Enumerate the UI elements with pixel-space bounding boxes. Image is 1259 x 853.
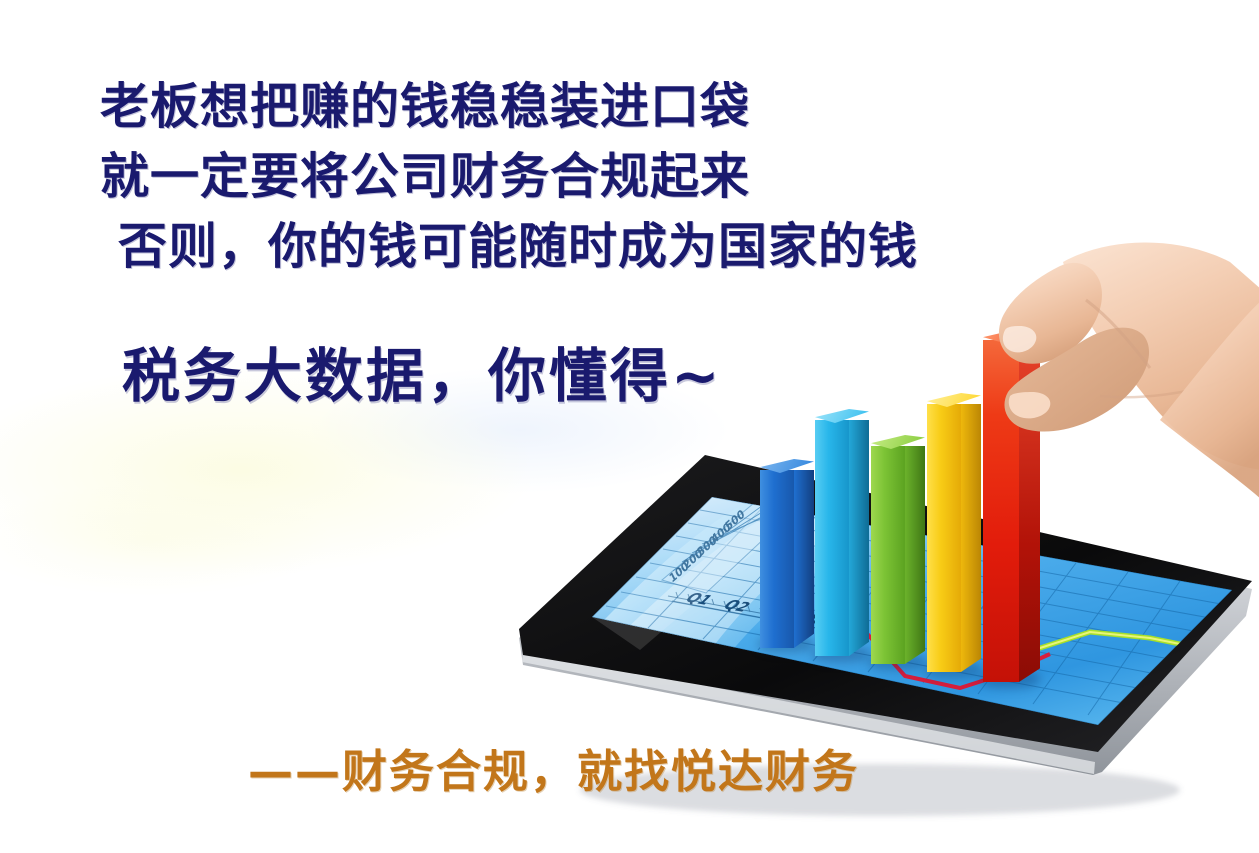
headline-line-2: 就一定要将公司财务合规起来 xyxy=(100,142,1060,212)
headline-line-3: 否则，你的钱可能随时成为国家的钱 xyxy=(100,212,1060,282)
poster-root: 100 200 300 400 500 Q1 Q2 Q3 Q4 xyxy=(0,0,1259,853)
headline-line-1: 老板想把赚的钱稳稳装进口袋 xyxy=(100,72,1060,142)
tagline: ——财务合规，就找悦达财务 xyxy=(248,735,859,800)
subheadline: 税务大数据，你懂得~ xyxy=(122,338,723,414)
headline-block: 老板想把赚的钱稳稳装进口袋 就一定要将公司财务合规起来 否则，你的钱可能随时成为… xyxy=(100,72,1060,282)
